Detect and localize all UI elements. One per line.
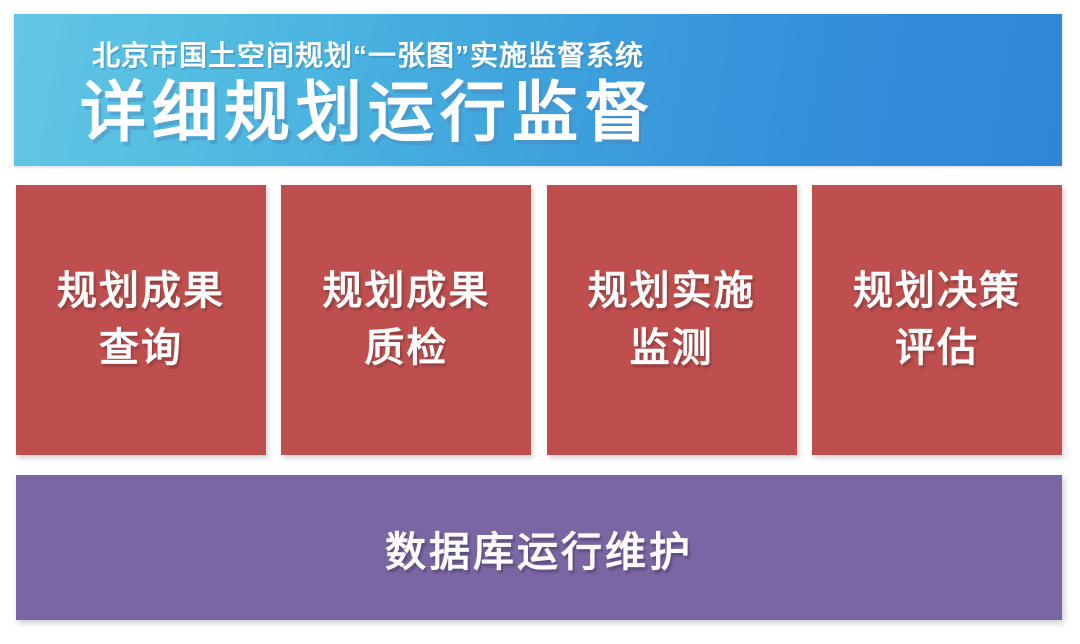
- module-card-planning-implementation-monitoring[interactable]: 规划实施 监测: [547, 185, 797, 455]
- foundation-bar-database-maintenance[interactable]: 数据库运行维护: [16, 475, 1062, 620]
- module-card-planning-decision-evaluation[interactable]: 规划决策 评估: [812, 185, 1062, 455]
- module-card-label: 规划成果 质检: [322, 263, 490, 377]
- header-banner: 北京市国土空间规划“一张图”实施监督系统 详细规划运行监督: [14, 14, 1062, 166]
- module-card-label: 规划实施 监测: [588, 263, 756, 377]
- module-card-planning-result-query[interactable]: 规划成果 查询: [16, 185, 266, 455]
- foundation-bar-label: 数据库运行维护: [385, 518, 693, 578]
- module-card-label: 规划决策 评估: [853, 263, 1021, 377]
- page-title: 详细规划运行监督: [80, 74, 656, 152]
- system-subtitle: 北京市国土空间规划“一张图”实施监督系统: [92, 34, 644, 74]
- module-card-planning-result-quality-check[interactable]: 规划成果 质检: [281, 185, 531, 455]
- diagram-canvas: 北京市国土空间规划“一张图”实施监督系统 详细规划运行监督 规划成果 查询 规划…: [0, 0, 1080, 644]
- module-card-label: 规划成果 查询: [57, 263, 225, 377]
- module-cards-row: 规划成果 查询 规划成果 质检 规划实施 监测 规划决策 评估: [16, 185, 1062, 455]
